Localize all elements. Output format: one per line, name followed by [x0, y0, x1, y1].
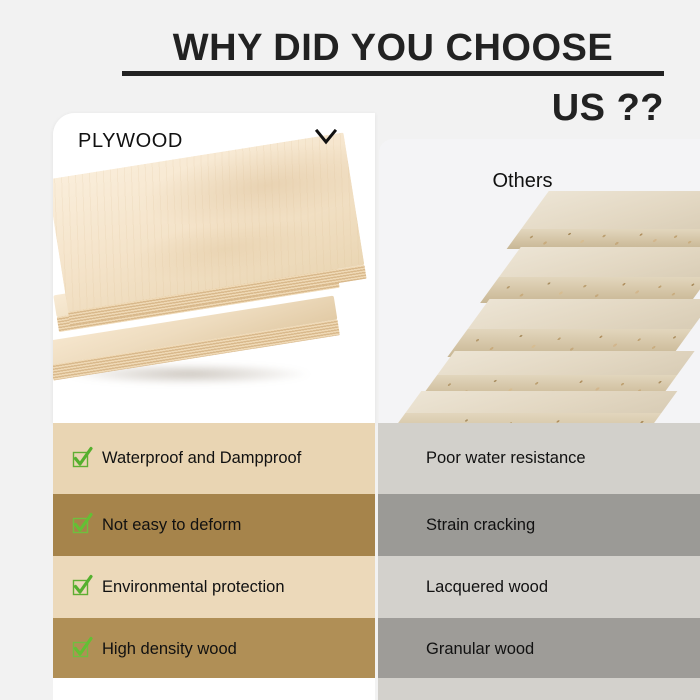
feature-label: Not easy to deform: [102, 516, 241, 535]
others-panel: Others: [379, 139, 700, 423]
feature-label: Granular wood: [426, 640, 534, 659]
feature-label: Strain cracking: [426, 516, 535, 535]
others-feature-row-4: Granular wood: [378, 618, 700, 680]
feature-label: Poor water resistance: [426, 449, 586, 468]
panel-title-others: Others: [379, 170, 666, 193]
plywood-feature-list: Waterproof and Dampproof Not easy to def…: [53, 423, 375, 680]
check-box-icon: [73, 579, 89, 595]
others-feature-row-2: Strain cracking: [378, 494, 700, 556]
plywood-illustration: [53, 113, 375, 423]
plywood-column-footer: [53, 678, 375, 700]
check-box-icon: [73, 517, 89, 533]
feature-label: Lacquered wood: [426, 578, 548, 597]
plywood-panel: PLYWOOD: [53, 113, 375, 423]
panel-title-plywood: PLYWOOD: [78, 130, 183, 153]
check-box-icon: [73, 451, 89, 467]
others-feature-list: Poor water resistance Strain cracking La…: [378, 423, 700, 680]
feature-label: Environmental protection: [102, 578, 285, 597]
particleboard-sheet-2: [477, 247, 700, 307]
plywood-feature-row-2: Not easy to deform: [53, 494, 375, 556]
feature-label: High density wood: [102, 640, 237, 659]
plywood-feature-row-4: High density wood: [53, 618, 375, 680]
title-underline: [122, 71, 664, 76]
page-title-line1: WHY DID YOU CHOOSE: [122, 26, 664, 70]
others-column-footer: [378, 678, 700, 700]
page-title-line2: US ??: [364, 86, 664, 130]
chevron-down-icon[interactable]: [315, 129, 337, 149]
check-box-icon: [73, 641, 89, 657]
particleboard-sheet-5: [381, 391, 678, 423]
plywood-feature-row-3: Environmental protection: [53, 556, 375, 618]
particleboard-sheet-1: [505, 191, 700, 251]
others-feature-row-3: Lacquered wood: [378, 556, 700, 618]
others-feature-row-1: Poor water resistance: [378, 423, 700, 494]
feature-label: Waterproof and Dampproof: [102, 449, 301, 468]
plywood-feature-row-1: Waterproof and Dampproof: [53, 423, 375, 494]
comparison-infographic: WHY DID YOU CHOOSE US ?? PLYWOOD: [0, 0, 700, 700]
